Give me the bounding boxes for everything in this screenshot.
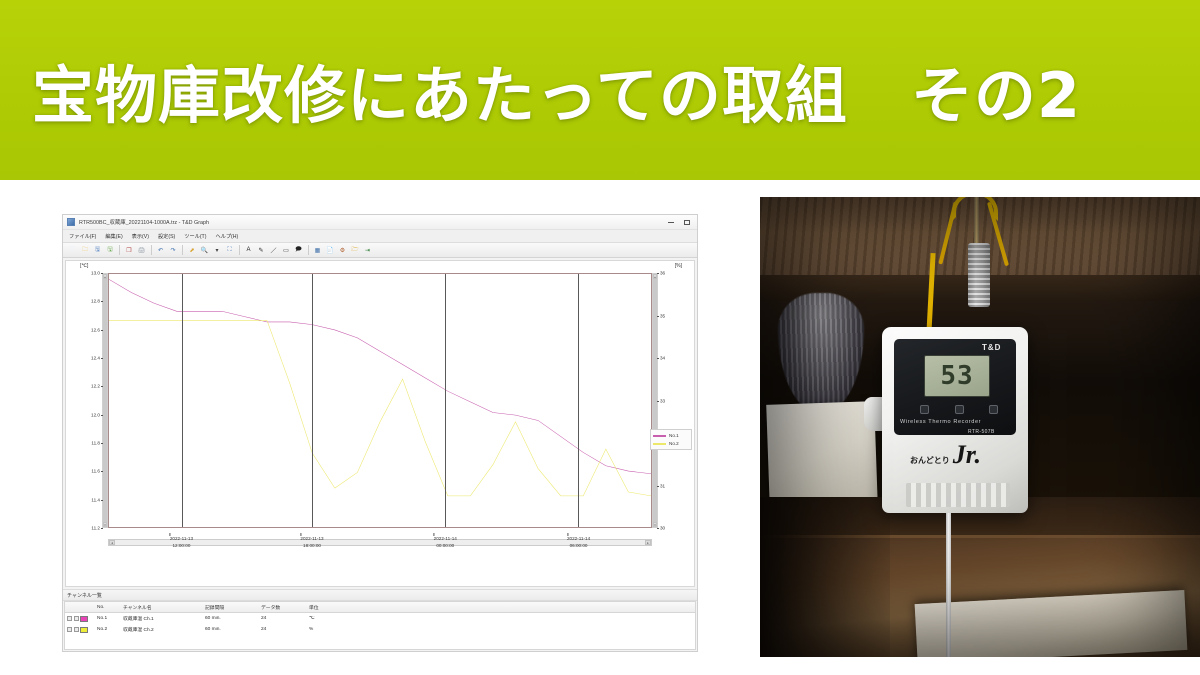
grid-line-vertical	[182, 274, 183, 527]
color-swatch[interactable]	[80, 627, 88, 633]
x-axis-labels: 2022-11-1312:00:002022-11-1318:00:002022…	[108, 536, 652, 560]
toolbar-separator	[119, 245, 120, 255]
exit-icon[interactable]: ⇥	[362, 245, 373, 256]
series-line-no1	[109, 279, 651, 473]
row-interval: 60 min.	[203, 627, 259, 632]
pen-tool-icon[interactable]: ✎	[256, 245, 267, 256]
right-axis-tick-label: 31	[660, 483, 665, 488]
table-row[interactable]: No.2 収蔵庫湿 Ch.2 60 min. 24 %	[65, 624, 695, 635]
line-tool-icon[interactable]: ／	[268, 245, 279, 256]
row-unit: ℃	[307, 616, 353, 621]
page-banner: 宝物庫改修にあたっての取組 その2	[0, 0, 1200, 180]
legend-label-no1: No.1	[669, 433, 679, 438]
row-icons[interactable]	[65, 616, 95, 622]
row-count: 24	[259, 616, 307, 621]
header-no: No.	[95, 605, 121, 610]
toolbar-separator	[151, 245, 152, 255]
window-titlebar: RTR500BC_収蔵庫_20221104-1000A.trz - T&D Gr…	[63, 215, 697, 230]
grid-line-vertical	[578, 274, 579, 527]
right-axis-tick-label: 35	[660, 313, 665, 318]
minimize-button[interactable]	[663, 216, 679, 228]
left-axis-tick-mark	[101, 301, 103, 302]
left-axis-tick-label: 12.6	[91, 327, 100, 332]
left-axis-ticks: 13.012.812.612.412.212.011.811.611.411.2	[66, 273, 100, 528]
legend-swatch-no1	[653, 435, 666, 437]
callout-tool-icon[interactable]: 🗩	[293, 245, 304, 256]
header-count: データ数	[259, 604, 307, 611]
graph-style-icon[interactable]	[74, 616, 79, 621]
right-axis-tick-mark	[657, 358, 659, 359]
toolbar-separator	[239, 245, 240, 255]
new-icon[interactable]: 🗋	[67, 245, 78, 256]
left-axis-tick-mark	[101, 386, 103, 387]
channel-table: No. チャンネル名 記録間隔 データ数 単位 No.1 収蔵庫温 Ch.1 6…	[64, 601, 696, 650]
app-icon	[67, 218, 75, 226]
save-as-icon[interactable]: 🖫	[105, 245, 116, 256]
left-axis-tick-label: 11.4	[91, 497, 100, 502]
select-tool-icon[interactable]: ⬈	[187, 245, 198, 256]
copy-icon[interactable]: ❐	[124, 245, 135, 256]
visibility-icon[interactable]	[67, 616, 72, 621]
right-axis-tick-label: 33	[660, 398, 665, 403]
chart-canvas: [℃] [%] ▴ ▾ ▴ ▾ 13.012.812.612.412.212.0…	[65, 260, 695, 587]
channel-list-panel: チャンネル一覧 No. チャンネル名 記録間隔 データ数 単位 No.1 収蔵庫…	[63, 589, 697, 651]
photo-vignette	[760, 197, 1200, 657]
print-icon[interactable]: 🖨	[136, 245, 147, 256]
legend-label-no2: No.2	[669, 441, 679, 446]
open-icon[interactable]: 🗀	[80, 245, 91, 256]
menu-item-edit[interactable]: 編集(E)	[105, 233, 122, 240]
chart-legend: No.1 No.2	[650, 429, 692, 450]
row-name: 収蔵庫湿 Ch.2	[121, 626, 203, 633]
left-axis-tick-mark	[101, 500, 103, 501]
right-axis-tick-mark	[657, 528, 659, 529]
maximize-button[interactable]	[679, 216, 695, 228]
undo-icon[interactable]: ↶	[155, 245, 166, 256]
left-axis-tick-label: 12.8	[91, 299, 100, 304]
save-icon[interactable]: 🖫	[92, 245, 103, 256]
right-axis-tick-label: 36	[660, 271, 665, 276]
right-axis-ticks: 36353433323130	[660, 273, 694, 528]
series-line-no2	[109, 321, 651, 496]
menu-item-file[interactable]: ファイル(F)	[69, 233, 96, 240]
left-axis-scroll-down[interactable]: ▾	[103, 522, 107, 527]
channel-table-header: No. チャンネル名 記録間隔 データ数 単位	[65, 602, 695, 613]
x-axis-tick-label: 2022-11-1318:00:00	[300, 536, 323, 550]
page-title: 宝物庫改修にあたっての取組 その2	[32, 45, 1081, 135]
menu-bar: ファイル(F) 編集(E) 表示(V) 設定(S) ツール(T) ヘルプ(H)	[63, 230, 697, 243]
right-axis-tick-mark	[657, 273, 659, 274]
grid-line-vertical	[445, 274, 446, 527]
row-count: 24	[259, 627, 307, 632]
zoom-icon[interactable]: 🔍	[199, 245, 210, 256]
report-icon[interactable]: 📄	[325, 245, 336, 256]
table-icon[interactable]: ▦	[312, 245, 323, 256]
menu-item-view[interactable]: 表示(V)	[132, 233, 149, 240]
td-graph-window: RTR500BC_収蔵庫_20221104-1000A.trz - T&D Gr…	[62, 214, 698, 652]
menu-item-settings[interactable]: 設定(S)	[158, 233, 175, 240]
right-axis-tick-label: 34	[660, 356, 665, 361]
sensor-photo: 53 T&D Wireless Thermo Recorder RTR-507B…	[760, 197, 1200, 657]
toolbar: 🗋🗀🖫🖫❐🖨↶↷⬈🔍▾⛶A✎／▭🗩▦📄⚙🗁⇥	[63, 243, 697, 258]
right-axis-unit: [%]	[675, 263, 682, 269]
redo-icon[interactable]: ↷	[168, 245, 179, 256]
left-axis-tick-label: 12.4	[91, 356, 100, 361]
settings-icon[interactable]: ⚙	[337, 245, 348, 256]
left-axis-tick-mark	[101, 443, 103, 444]
window-title: RTR500BC_収蔵庫_20221104-1000A.trz - T&D Gr…	[79, 218, 209, 226]
left-axis-unit: [℃]	[80, 263, 88, 269]
left-axis-tick-mark	[101, 415, 103, 416]
left-axis-tick-label: 11.2	[91, 526, 100, 531]
legend-swatch-no2	[653, 443, 666, 445]
visibility-icon[interactable]	[67, 627, 72, 632]
left-axis-tick-mark	[101, 273, 103, 274]
legend-item-no2[interactable]: No.2	[653, 441, 689, 446]
left-axis-tick-label: 11.8	[91, 441, 100, 446]
table-row[interactable]: No.1 収蔵庫温 Ch.1 60 min. 24 ℃	[65, 613, 695, 624]
graph-style-icon[interactable]	[74, 627, 79, 632]
left-axis-tick-label: 12.0	[91, 412, 100, 417]
row-no: No.1	[95, 616, 121, 621]
left-axis-scroll-thumb[interactable]	[103, 279, 107, 522]
row-icons[interactable]	[65, 627, 95, 633]
row-interval: 60 min.	[203, 616, 259, 621]
left-axis-tick-mark	[101, 330, 103, 331]
left-axis-tick-mark	[101, 528, 103, 529]
left-axis-tick-mark	[101, 358, 103, 359]
right-axis-tick-mark	[657, 401, 659, 402]
grid-line-vertical	[312, 274, 313, 527]
right-axis-scroll-down[interactable]: ▾	[653, 522, 657, 527]
right-axis-tick-mark	[657, 486, 659, 487]
row-name: 収蔵庫温 Ch.1	[121, 615, 203, 622]
toolbar-separator	[182, 245, 183, 255]
color-swatch[interactable]	[80, 616, 88, 622]
header-name: チャンネル名	[121, 604, 203, 611]
folder-open-icon[interactable]: 🗁	[350, 245, 361, 256]
legend-item-no1[interactable]: No.1	[653, 433, 689, 438]
right-axis-tick-mark	[657, 316, 659, 317]
zoom-dropdown-icon[interactable]: ▾	[212, 245, 223, 256]
menu-item-help[interactable]: ヘルプ(H)	[215, 233, 238, 240]
header-unit: 単位	[307, 604, 353, 611]
plot-area[interactable]	[108, 273, 652, 528]
x-axis-tick-label: 2022-11-1406:00:00	[567, 536, 590, 550]
menu-item-tools[interactable]: ツール(T)	[184, 233, 206, 240]
series-lines	[109, 274, 651, 527]
x-axis-tick-label: 2022-11-1312:00:00	[170, 536, 193, 550]
fit-icon[interactable]: ⛶	[224, 245, 235, 256]
text-tool-icon[interactable]: A	[243, 245, 254, 256]
right-axis-tick-label: 30	[660, 526, 665, 531]
left-axis-tick-label: 12.2	[91, 384, 100, 389]
row-unit: %	[307, 627, 353, 632]
left-axis-tick-mark	[101, 471, 103, 472]
row-no: No.2	[95, 627, 121, 632]
left-axis-tick-label: 11.6	[91, 469, 100, 474]
toolbar-separator	[308, 245, 309, 255]
left-axis-tick-label: 13.0	[91, 271, 100, 276]
channel-list-title: チャンネル一覧	[63, 590, 697, 601]
rect-tool-icon[interactable]: ▭	[281, 245, 292, 256]
header-interval: 記録間隔	[203, 604, 259, 611]
x-axis-tick-label: 2022-11-1400:00:00	[434, 536, 457, 550]
